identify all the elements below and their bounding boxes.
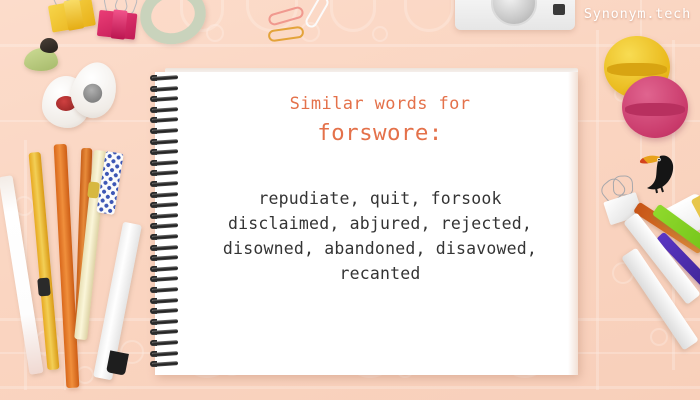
spiral-ring xyxy=(150,277,180,282)
camera-lens-icon xyxy=(491,0,537,26)
spiral-ring xyxy=(150,161,180,166)
spiral-ring xyxy=(150,150,180,155)
spiral-ring xyxy=(150,97,180,102)
glue-bottle-cap-icon xyxy=(691,194,700,224)
spiral-ring xyxy=(150,352,180,357)
spiral-ring xyxy=(150,320,180,325)
camera-icon xyxy=(455,0,575,30)
word-line: disclaimed, abjured, rejected, xyxy=(190,211,570,236)
similar-words-title: Similar words for xyxy=(190,92,570,116)
spiral-ring xyxy=(150,193,180,198)
spiral-ring xyxy=(150,341,180,346)
spiral-binding xyxy=(150,76,184,372)
word-line: disowned, abandoned, disavowed, xyxy=(190,236,570,261)
spiral-ring xyxy=(150,203,180,208)
notepad-content: Similar words for forswore: repudiate, q… xyxy=(190,92,570,286)
spiral-ring xyxy=(150,129,180,134)
spiral-ring xyxy=(150,182,180,187)
spiral-ring xyxy=(150,256,180,261)
binder-clip-pink-icon xyxy=(94,4,144,49)
spiral-ring xyxy=(150,330,180,335)
headword: forswore: xyxy=(190,118,570,148)
spiral-ring xyxy=(150,87,180,92)
spiral-ring xyxy=(150,76,180,81)
pencil-yellow-tip-icon xyxy=(37,278,51,297)
spiral-ring xyxy=(150,224,180,229)
synonym-word-list: repudiate, quit, forsook disclaimed, abj… xyxy=(190,186,570,286)
spiral-ring xyxy=(150,214,180,219)
spiral-ring xyxy=(150,362,180,367)
spiral-ring xyxy=(150,140,180,145)
spiral-ring xyxy=(150,299,180,304)
brand-logo: Synonym.tech xyxy=(584,6,691,22)
spiral-ring xyxy=(150,288,180,293)
macaron-pink-icon xyxy=(622,76,688,138)
spiral-ring xyxy=(150,108,180,113)
word-line: recanted xyxy=(190,261,570,286)
spiral-ring xyxy=(150,267,180,272)
spiral-ring xyxy=(150,235,180,240)
word-line: repudiate, quit, forsook xyxy=(190,186,570,211)
spiral-ring xyxy=(150,246,180,251)
spiral-ring xyxy=(150,171,180,176)
spiral-ring xyxy=(150,309,180,314)
spiral-ring xyxy=(150,118,180,123)
bird-figurine-green-icon xyxy=(22,38,62,72)
camera-flash-icon xyxy=(553,4,565,15)
